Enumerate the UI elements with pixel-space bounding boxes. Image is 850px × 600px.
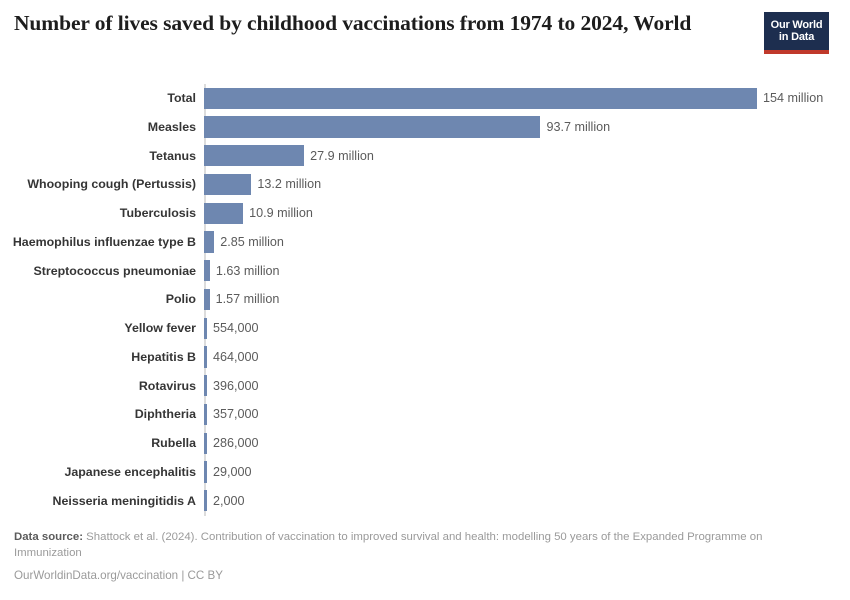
bar-track: 286,000 xyxy=(204,429,844,458)
bar-row[interactable]: Measles93.7 million xyxy=(0,113,850,142)
chart-footer: Data source: Shattock et al. (2024). Con… xyxy=(14,530,804,583)
bar-track: 554,000 xyxy=(204,314,844,343)
bar-rows: Total154 millionMeasles93.7 millionTetan… xyxy=(0,84,850,515)
source-url-line[interactable]: OurWorldinData.org/vaccination | CC BY xyxy=(14,568,804,583)
data-source-text: Shattock et al. (2024). Contribution of … xyxy=(14,531,762,559)
bar-value-label: 93.7 million xyxy=(546,113,610,142)
bar-value-label: 1.63 million xyxy=(216,257,280,286)
chart-header: Number of lives saved by childhood vacci… xyxy=(14,10,834,70)
bar[interactable] xyxy=(204,174,251,195)
bar-category-label: Japanese encephalitis xyxy=(64,458,196,487)
bar-track: 10.9 million xyxy=(204,199,844,228)
data-source-label: Data source: xyxy=(14,531,83,543)
bar[interactable] xyxy=(204,88,757,109)
chart-page: Number of lives saved by childhood vacci… xyxy=(0,0,850,600)
bar-category-label: Tuberculosis xyxy=(120,199,196,228)
bar-track: 396,000 xyxy=(204,372,844,401)
bar-category-label: Tetanus xyxy=(149,142,196,171)
bar-row[interactable]: Yellow fever554,000 xyxy=(0,314,850,343)
bar-track: 27.9 million xyxy=(204,142,844,171)
bar[interactable] xyxy=(204,490,207,511)
bar-row[interactable]: Diphtheria357,000 xyxy=(0,400,850,429)
bar-value-label: 357,000 xyxy=(213,400,259,429)
bar-value-label: 1.57 million xyxy=(216,285,280,314)
bar[interactable] xyxy=(204,318,207,339)
bar-value-label: 464,000 xyxy=(213,343,259,372)
bar[interactable] xyxy=(204,145,304,166)
data-source-line: Data source: Shattock et al. (2024). Con… xyxy=(14,530,804,561)
owid-logo[interactable]: Our World in Data xyxy=(764,12,829,54)
bar-track: 2,000 xyxy=(204,487,844,516)
bar-value-label: 2.85 million xyxy=(220,228,284,257)
bar-category-label: Haemophilus influenzae type B xyxy=(13,228,196,257)
bar[interactable] xyxy=(204,289,210,310)
bar-category-label: Yellow fever xyxy=(124,314,196,343)
bar-row[interactable]: Polio1.57 million xyxy=(0,285,850,314)
bar-track: 13.2 million xyxy=(204,170,844,199)
bar-category-label: Total xyxy=(167,84,196,113)
bar[interactable] xyxy=(204,116,540,137)
bar-track: 1.57 million xyxy=(204,285,844,314)
bar-row[interactable]: Total154 million xyxy=(0,84,850,113)
bar-category-label: Neisseria meningitidis A xyxy=(53,487,196,516)
page-title: Number of lives saved by childhood vacci… xyxy=(14,10,694,36)
bar-row[interactable]: Rubella286,000 xyxy=(0,429,850,458)
bar-category-label: Rotavirus xyxy=(139,372,196,401)
bar[interactable] xyxy=(204,404,207,425)
bar-row[interactable]: Japanese encephalitis29,000 xyxy=(0,458,850,487)
bar-category-label: Hepatitis B xyxy=(131,343,196,372)
bar-track: 2.85 million xyxy=(204,228,844,257)
bar-value-label: 13.2 million xyxy=(257,170,321,199)
bar-chart: Total154 millionMeasles93.7 millionTetan… xyxy=(0,84,850,516)
bar-track: 154 million xyxy=(204,84,844,113)
bar-category-label: Diphtheria xyxy=(135,400,196,429)
bar[interactable] xyxy=(204,260,210,281)
bar-value-label: 286,000 xyxy=(213,429,259,458)
bar-row[interactable]: Hepatitis B464,000 xyxy=(0,343,850,372)
bar-value-label: 396,000 xyxy=(213,372,259,401)
bar-value-label: 2,000 xyxy=(213,487,245,516)
bar-category-label: Polio xyxy=(166,285,196,314)
bar-track: 357,000 xyxy=(204,400,844,429)
bar-row[interactable]: Whooping cough (Pertussis)13.2 million xyxy=(0,170,850,199)
bar-category-label: Streptococcus pneumoniae xyxy=(34,257,197,286)
bar[interactable] xyxy=(204,375,207,396)
bar-category-label: Rubella xyxy=(151,429,196,458)
bar[interactable] xyxy=(204,346,207,367)
bar-value-label: 554,000 xyxy=(213,314,259,343)
bar-value-label: 27.9 million xyxy=(310,142,374,171)
bar-track: 29,000 xyxy=(204,458,844,487)
bar-row[interactable]: Rotavirus396,000 xyxy=(0,372,850,401)
bar-value-label: 10.9 million xyxy=(249,199,313,228)
bar-row[interactable]: Haemophilus influenzae type B2.85 millio… xyxy=(0,228,850,257)
owid-logo-line2: in Data xyxy=(779,31,814,44)
bar[interactable] xyxy=(204,203,243,224)
bar-track: 93.7 million xyxy=(204,113,844,142)
bar[interactable] xyxy=(204,231,214,252)
bar[interactable] xyxy=(204,461,207,482)
bar-category-label: Measles xyxy=(148,113,196,142)
bar-category-label: Whooping cough (Pertussis) xyxy=(27,170,196,199)
bar-row[interactable]: Neisseria meningitidis A2,000 xyxy=(0,487,850,516)
bar-row[interactable]: Tuberculosis10.9 million xyxy=(0,199,850,228)
bar-track: 464,000 xyxy=(204,343,844,372)
bar[interactable] xyxy=(204,433,207,454)
bar-row[interactable]: Tetanus27.9 million xyxy=(0,142,850,171)
bar-track: 1.63 million xyxy=(204,257,844,286)
bar-value-label: 29,000 xyxy=(213,458,252,487)
bar-value-label: 154 million xyxy=(763,84,823,113)
owid-logo-line1: Our World xyxy=(771,19,823,32)
bar-row[interactable]: Streptococcus pneumoniae1.63 million xyxy=(0,257,850,286)
